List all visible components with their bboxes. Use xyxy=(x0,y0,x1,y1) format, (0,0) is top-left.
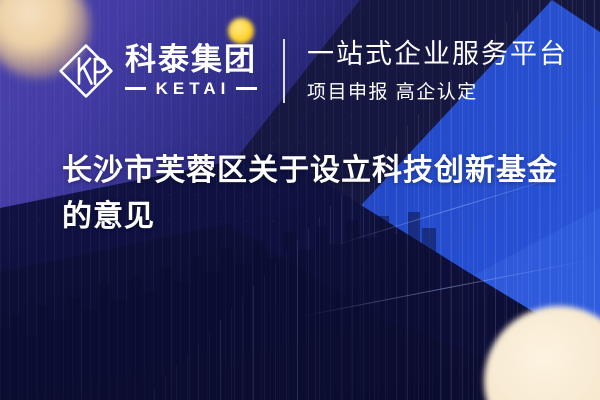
tagline-sub: 项目申报 高企认定 xyxy=(307,77,568,104)
page-title: 长沙市芙蓉区关于设立科技创新基金的意见 xyxy=(62,148,562,239)
brand-name-en-row: KETAI xyxy=(125,79,257,99)
wordmark-rule-left xyxy=(125,87,146,90)
vertical-divider-icon xyxy=(283,39,285,103)
tagline-main: 一站式企业服务平台 xyxy=(307,38,568,70)
wordmark-rule-right xyxy=(236,87,257,90)
tagline-block: 一站式企业服务平台 项目申报 高企认定 xyxy=(307,38,568,104)
banner-content: 科泰集团 KETAI 一站式企业服务平台 项目申报 高企认定 长沙市芙蓉区关于设… xyxy=(0,0,600,400)
banner-header: 科泰集团 KETAI 一站式企业服务平台 项目申报 高企认定 xyxy=(57,38,568,104)
promo-banner: 科泰集团 KETAI 一站式企业服务平台 项目申报 高企认定 长沙市芙蓉区关于设… xyxy=(0,0,600,400)
brand-name-cn: 科泰集团 xyxy=(125,44,257,76)
brand-wordmark: 科泰集团 KETAI xyxy=(125,44,257,99)
brand-name-en: KETAI xyxy=(152,79,231,99)
ketai-kp-diamond-icon xyxy=(57,42,115,100)
